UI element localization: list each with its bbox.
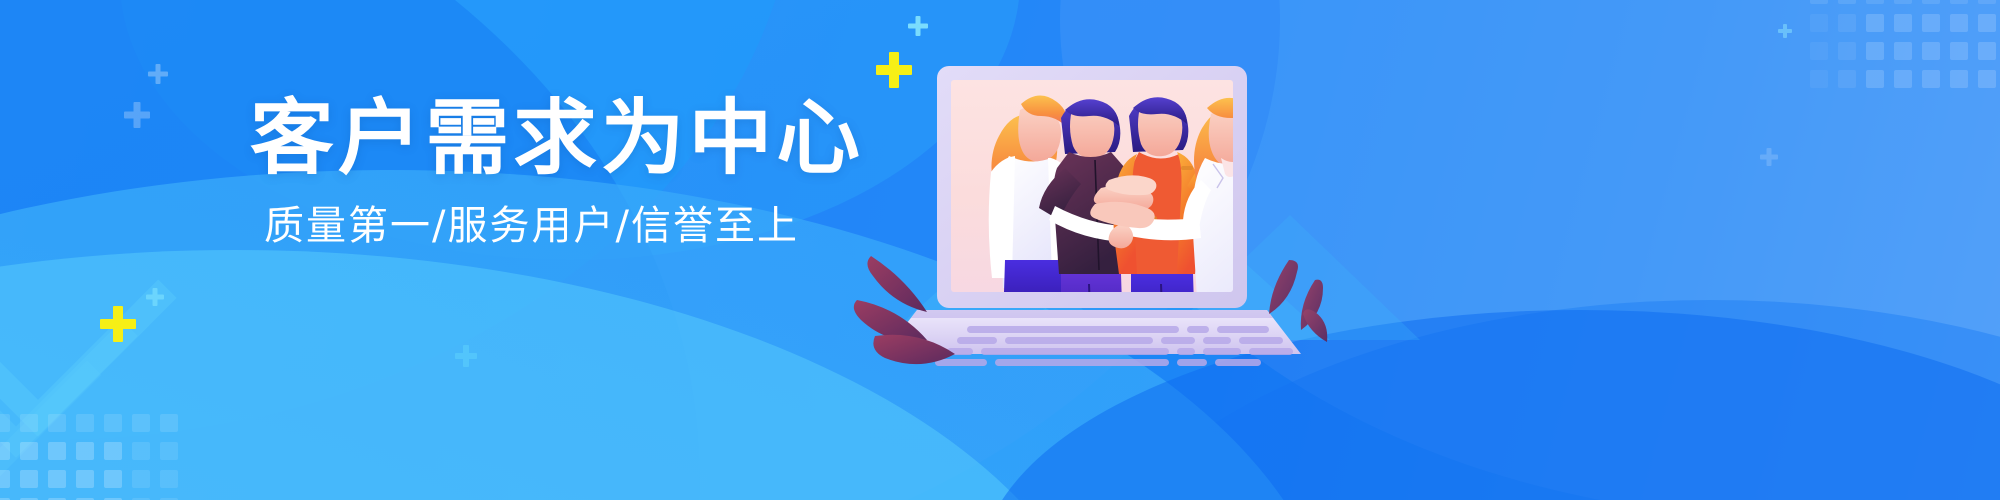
banner-subheadline: 质量第一/服务用户/信誉至上: [264, 206, 850, 246]
square-grid-top-right: [1810, 0, 1996, 88]
plus-icon-white-right: [1760, 148, 1778, 166]
plus-icon-white-large: [124, 102, 150, 128]
promo-banner: 客户需求为中心 质量第一/服务用户/信誉至上: [0, 0, 2000, 500]
banner-copy: 客户需求为中心 质量第一/服务用户/信誉至上: [250, 98, 850, 246]
plus-icon-cyan-top: [908, 16, 928, 36]
laptop-team-illustration: [905, 48, 1325, 368]
plus-icon-cyan-corner: [1778, 24, 1792, 38]
banner-headline: 客户需求为中心: [250, 98, 862, 180]
square-grid-bottom-left: [0, 414, 178, 500]
plus-icon-cyan-center: [455, 345, 477, 367]
plus-icon-white-small: [148, 64, 168, 84]
plus-icon-yellow-small: [100, 306, 136, 342]
plus-icon-cyan-bottom: [146, 288, 164, 306]
